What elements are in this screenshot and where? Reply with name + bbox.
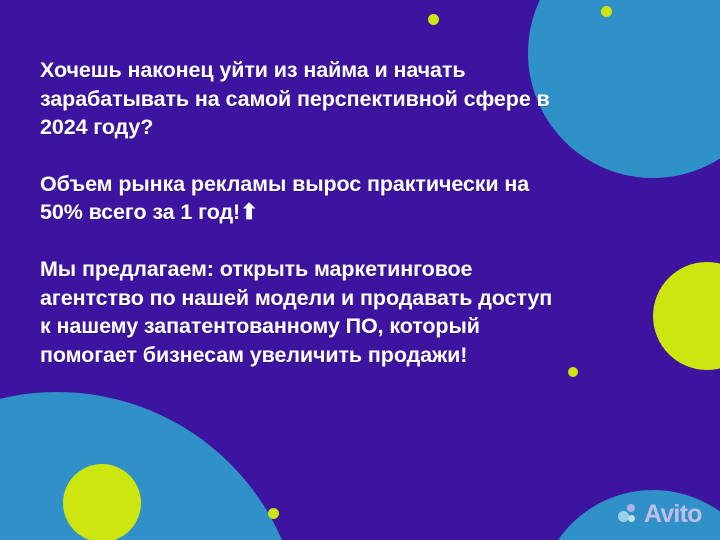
blue-circle-bottom-left-icon	[0, 392, 302, 540]
yellow-circle-right-edge-icon	[653, 262, 720, 370]
yellow-dot-top-right-icon	[601, 6, 612, 17]
yellow-circle-bottom-left-icon	[63, 464, 141, 540]
market-stat-text: Объем рынка рекламы вырос практически на…	[40, 172, 529, 225]
yellow-dot-top-left-icon	[428, 14, 439, 25]
avito-brand-label: Avito	[644, 502, 702, 527]
promo-slide: Хочешь наконец уйти из найма и начать за…	[0, 0, 720, 540]
avito-dot-medium-icon	[627, 504, 635, 512]
arrow-up-icon: ⬆	[240, 200, 258, 224]
yellow-dot-mid-right-icon	[568, 367, 578, 377]
headline-paragraph: Хочешь наконец уйти из найма и начать за…	[40, 56, 560, 142]
yellow-dot-bottom-left-icon	[268, 508, 279, 519]
avito-watermark: Avito	[618, 502, 702, 527]
avito-dot-small-icon	[628, 515, 635, 522]
avito-dots-icon	[618, 504, 640, 526]
promo-copy: Хочешь наконец уйти из найма и начать за…	[40, 56, 560, 369]
market-stat-paragraph: Объем рынка рекламы вырос практически на…	[40, 170, 560, 227]
offer-paragraph: Мы предлагаем: открыть маркетинговое аге…	[40, 255, 560, 369]
